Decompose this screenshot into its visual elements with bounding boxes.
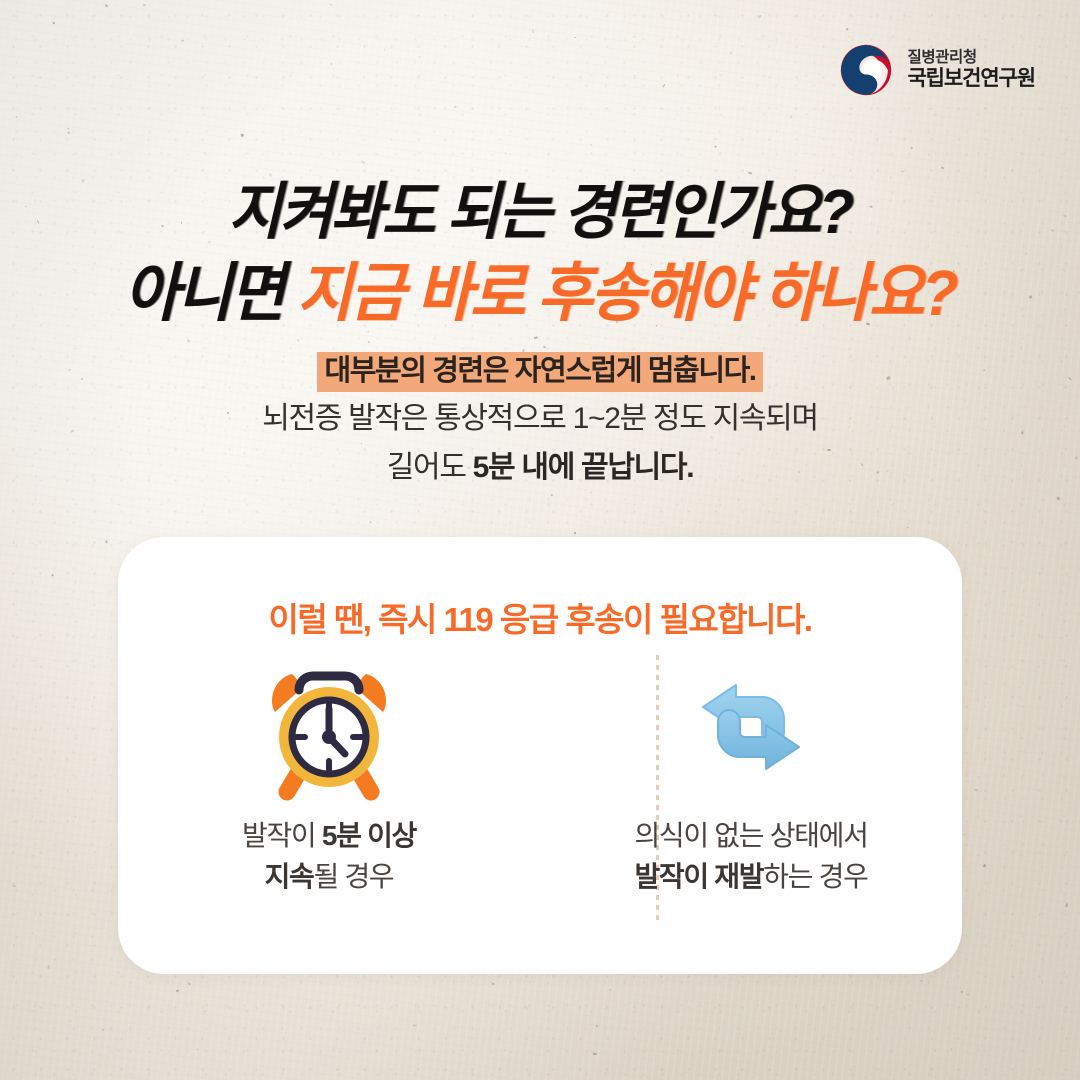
headline-line-2: 아니면 지금 바로 후송해야 하나요? xyxy=(32,257,1047,330)
caption-1-line1-normal: 발작이 xyxy=(242,820,322,851)
repeat-arrows-icon-box xyxy=(676,647,826,807)
alarm-clock-icon-box xyxy=(254,647,404,807)
caption-1-line2-normal: 될 경우 xyxy=(314,861,394,892)
condition-caption-duration: 발작이 5분 이상 지속될 경우 xyxy=(242,815,416,898)
subtitle-highlight: 대부분의 경련은 자연스럽게 멈춥니다. xyxy=(317,352,762,392)
caption-2-line2-bold: 발작이 재발 xyxy=(634,861,763,892)
subtitle-highlight-row: 대부분의 경련은 자연스럽게 멈춥니다. xyxy=(0,352,1080,392)
condition-caption-recurrence: 의식이 없는 상태에서 발작이 재발하는 경우 xyxy=(634,815,867,898)
emergency-card: 이럴 땐, 즉시 119 응급 후송이 필요합니다. xyxy=(118,537,962,974)
headline-line-2-orange: 지금 바로 후송해야 하나요? xyxy=(297,257,956,329)
headline-line-2-black: 아니면 xyxy=(124,257,283,329)
condition-item-recurrence: 의식이 없는 상태에서 발작이 재발하는 경우 xyxy=(540,647,962,947)
caption-1-line1-bold: 5분 이상 xyxy=(322,820,416,851)
subtitle-line-3: 길어도 5분 내에 끝납니다. xyxy=(0,447,1080,490)
headline: 지켜봐도 되는 경련인가요? 아니면 지금 바로 후송해야 하나요? xyxy=(0,178,1080,330)
repeat-arrows-icon xyxy=(676,652,826,802)
headline-line-1: 지켜봐도 되는 경련인가요? xyxy=(32,178,1047,249)
subtitle-block: 대부분의 경련은 자연스럽게 멈춥니다. 뇌전증 발작은 통상적으로 1~2분 … xyxy=(0,352,1080,489)
caption-2-line2-normal: 하는 경우 xyxy=(763,861,867,892)
condition-item-duration: 발작이 5분 이상 지속될 경우 xyxy=(118,647,540,947)
subtitle-line-2: 뇌전증 발작은 통상적으로 1~2분 정도 지속되며 xyxy=(0,398,1080,441)
card-columns: 발작이 5분 이상 지속될 경우 xyxy=(118,647,962,947)
alarm-clock-icon xyxy=(254,652,404,802)
caption-1-line2-bold: 지속 xyxy=(265,861,314,892)
taegeuk-emblem-icon xyxy=(838,42,894,98)
poster-root: 질병관리청 국립보건연구원 지켜봐도 되는 경련인가요? 아니면 지금 바로 후… xyxy=(0,0,1080,1080)
agency-name: 질병관리청 xyxy=(907,49,1035,67)
subtitle-line-3-normal: 길어도 xyxy=(387,451,473,484)
agency-logo: 질병관리청 국립보건연구원 xyxy=(838,42,1035,98)
card-title: 이럴 땐, 즉시 119 응급 후송이 필요합니다. xyxy=(118,593,962,641)
subtitle-line-3-bold: 5분 내에 끝납니다. xyxy=(473,451,694,484)
caption-2-line1: 의식이 없는 상태에서 xyxy=(634,820,867,851)
institute-name: 국립보건연구원 xyxy=(907,67,1035,91)
